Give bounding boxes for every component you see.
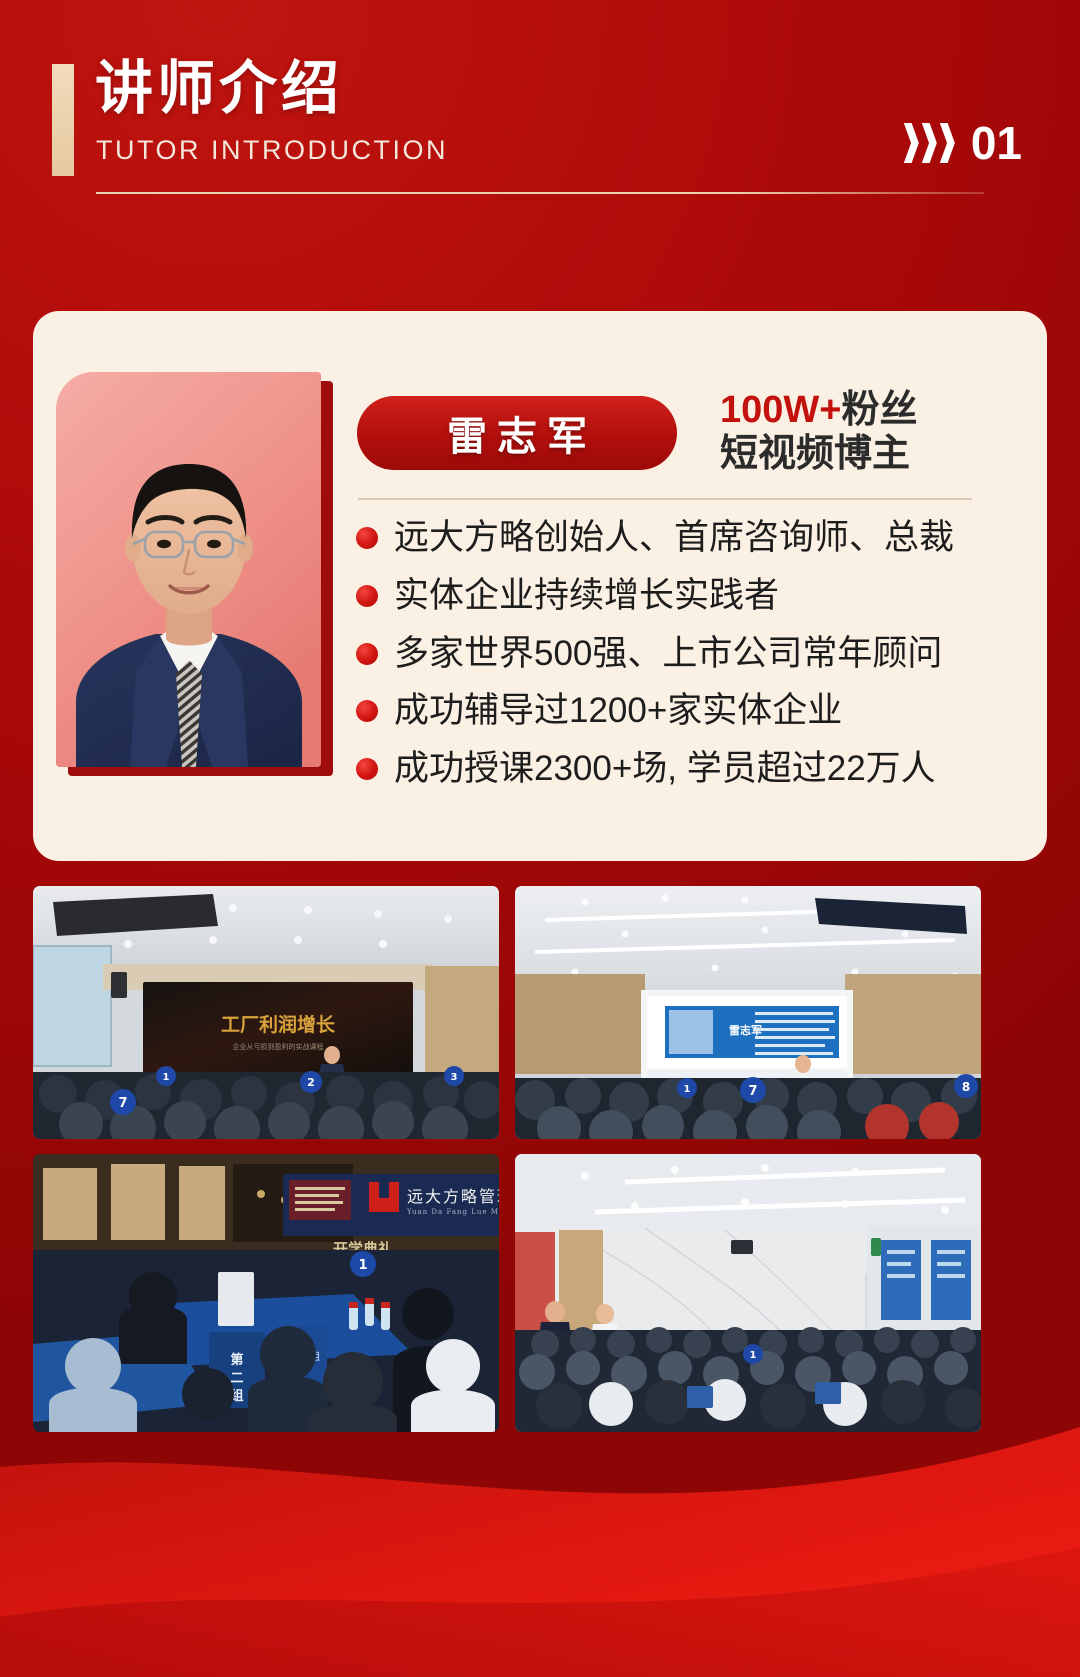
lecturer-name: 雷志军: [437, 404, 597, 462]
svg-text:1: 1: [750, 1350, 757, 1361]
credentials-list: 远大方略创始人、首席咨询师、总裁 实体企业持续增长实践者 多家世界500强、上市…: [356, 516, 976, 805]
svg-text:Yuan Da Fang Lue Management Co: Yuan Da Fang Lue Management Consulting G…: [406, 1208, 499, 1216]
svg-text:1: 1: [684, 1084, 691, 1095]
svg-text:2: 2: [307, 1076, 315, 1089]
fans-role-label: 短视频博主: [720, 432, 970, 476]
list-item: 实体企业持续增长实践者: [356, 574, 976, 619]
list-item: 成功授课2300+场, 学员超过22万人: [356, 747, 976, 792]
credential-text: 多家世界500强、上市公司常年顾问: [394, 632, 942, 677]
bullet-dot-icon: [356, 758, 378, 780]
svg-text:第: 第: [230, 1352, 243, 1368]
gallery-row-bottom: 远大方略管理咨询 Yuan Da Fang Lue Management Con…: [33, 1154, 1047, 1432]
lecturer-name-badge: 雷志军: [357, 396, 677, 470]
svg-text:7: 7: [748, 1084, 757, 1099]
svg-text:工厂利润增长: 工厂利润增长: [221, 1013, 336, 1036]
svg-text:1: 1: [163, 1072, 170, 1083]
bullet-dot-icon: [356, 585, 378, 607]
avatar: [56, 372, 321, 767]
bullet-dot-icon: [356, 643, 378, 665]
photo-large-classroom: 1: [515, 1154, 981, 1432]
bullet-dot-icon: [356, 527, 378, 549]
credential-text: 实体企业持续增长实践者: [394, 574, 779, 619]
page-subtitle: TUTOR INTRODUCTION: [96, 135, 448, 166]
svg-text:二: 二: [230, 1371, 243, 1386]
header-divider: [96, 192, 984, 194]
svg-text:8: 8: [962, 1080, 970, 1094]
photo-group-discussion: 远大方略管理咨询 Yuan Da Fang Lue Management Con…: [33, 1154, 499, 1432]
photo-gallery: 工厂利润增长 企业从亏损到盈利的实战课程: [33, 886, 1047, 1447]
credential-text: 成功授课2300+场, 学员超过22万人: [394, 747, 936, 792]
fans-count-line: 100W+粉丝: [720, 388, 970, 432]
list-item: 多家世界500强、上市公司常年顾问: [356, 632, 976, 677]
section-number: 01: [971, 120, 1022, 166]
svg-text:1: 1: [358, 1258, 367, 1273]
svg-text:3: 3: [451, 1072, 458, 1083]
bullet-dot-icon: [356, 700, 378, 722]
section-number-group: 01: [904, 120, 1022, 166]
page-header: 讲师介绍 TUTOR INTRODUCTION 01: [0, 52, 1080, 212]
list-item: 成功辅导过1200+家实体企业: [356, 689, 976, 734]
list-item: 远大方略创始人、首席咨询师、总裁: [356, 516, 976, 561]
credential-text: 远大方略创始人、首席咨询师、总裁: [394, 516, 954, 561]
svg-text:远大方略管理咨询: 远大方略管理咨询: [407, 1187, 499, 1206]
fans-stat-block: 100W+粉丝 短视频博主: [720, 388, 970, 476]
gallery-row-top: 工厂利润增长 企业从亏损到盈利的实战课程: [33, 886, 1047, 1139]
portrait-photo: [56, 372, 321, 767]
photo-lecture-hall-slide: 雷志军: [515, 886, 981, 1139]
svg-text:7: 7: [118, 1096, 127, 1111]
fans-count-label: 粉丝: [841, 389, 917, 431]
header-accent-bar: [52, 64, 74, 176]
svg-text:企业从亏损到盈利的实战课程: 企业从亏损到盈利的实战课程: [233, 1042, 324, 1051]
fans-count-value: 100W+: [720, 389, 841, 431]
photo-conference-hall-stage: 工厂利润增长 企业从亏损到盈利的实战课程: [33, 886, 499, 1139]
credential-text: 成功辅导过1200+家实体企业: [394, 689, 842, 734]
page-title: 讲师介绍: [95, 60, 343, 118]
triple-chevron-right-icon: [904, 123, 955, 163]
card-divider: [358, 498, 972, 500]
